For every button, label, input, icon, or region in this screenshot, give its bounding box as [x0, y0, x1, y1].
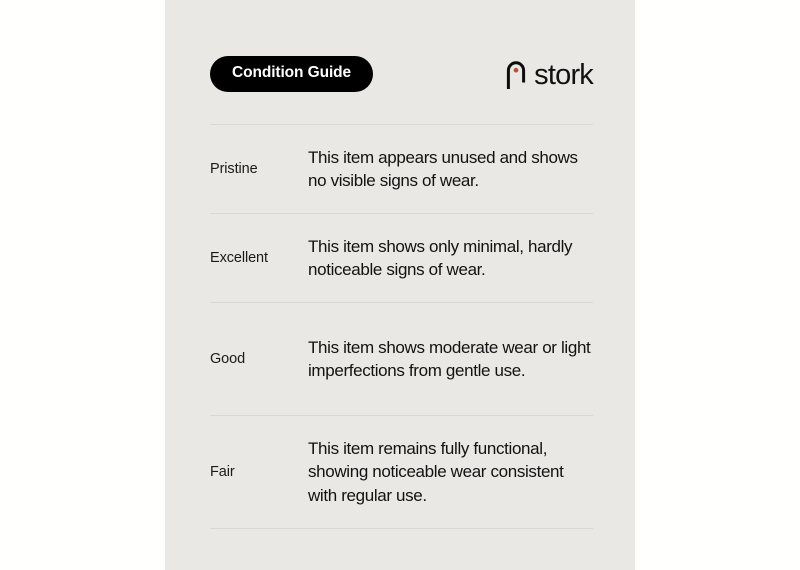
condition-table: Pristine This item appears unused and sh…	[210, 124, 593, 529]
table-row: Fair This item remains fully functional,…	[210, 416, 593, 528]
divider	[210, 528, 593, 529]
condition-label: Pristine	[210, 160, 308, 179]
condition-description: This item shows only minimal, hardly not…	[308, 223, 593, 294]
condition-label: Good	[210, 350, 308, 369]
condition-description: This item remains fully functional, show…	[308, 425, 593, 519]
condition-description: This item appears unused and shows no vi…	[308, 134, 593, 205]
table-row: Pristine This item appears unused and sh…	[210, 125, 593, 213]
condition-guide-card: Condition Guide stork Pristine This item…	[165, 0, 635, 570]
brand-name: stork	[534, 61, 593, 90]
brand-logo: stork	[505, 59, 593, 89]
table-row: Excellent This item shows only minimal, …	[210, 214, 593, 302]
condition-description: This item shows moderate wear or light i…	[308, 324, 593, 395]
page-root: Condition Guide stork Pristine This item…	[0, 0, 800, 570]
condition-guide-pill[interactable]: Condition Guide	[210, 56, 373, 92]
stork-arch-logo-icon	[505, 59, 527, 89]
table-row: Good This item shows moderate wear or li…	[210, 303, 593, 415]
card-header: Condition Guide stork	[210, 55, 593, 93]
condition-label: Fair	[210, 463, 308, 482]
condition-label: Excellent	[210, 249, 308, 268]
